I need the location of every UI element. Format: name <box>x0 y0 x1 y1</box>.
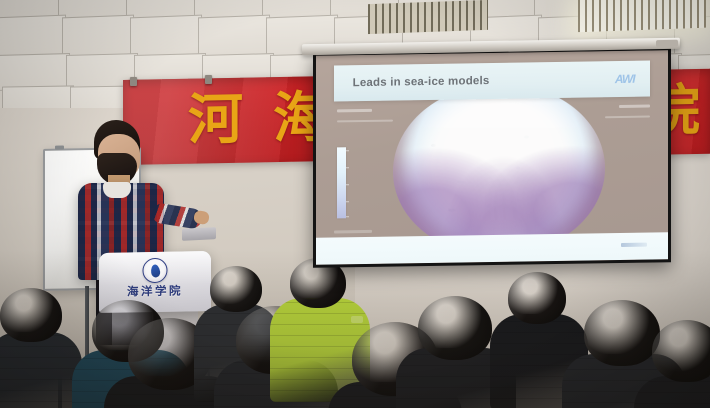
slide-title: Leads in sea-ice models <box>353 75 490 89</box>
lecture-hall-photo: 河 海 院 <box>0 0 710 408</box>
banner-clip-left <box>130 77 137 86</box>
room-shadow-gradient <box>0 250 710 408</box>
light-grille <box>578 0 706 32</box>
projection-screen-frame: Leads in sea-ice models AWI <box>313 47 671 268</box>
presentation-slide: Leads in sea-ice models AWI <box>316 50 668 265</box>
slide-label-left-heading <box>337 109 372 113</box>
fluorescent-panel-left <box>368 0 488 34</box>
light-grille <box>368 0 488 34</box>
slide-label-right-sub <box>605 115 651 118</box>
slide-label-left-sub <box>337 119 393 122</box>
slide-footer-band <box>316 232 668 265</box>
fluorescent-panel-right <box>578 0 706 32</box>
arctic-sea-ice-map <box>393 83 604 258</box>
slide-footer-logo <box>621 243 647 247</box>
awi-logo: AWI <box>615 72 635 86</box>
screen-housing-cap <box>656 40 678 47</box>
banner-clip-mid <box>205 75 212 84</box>
slide-label-right-heading <box>619 105 651 108</box>
speaker-shirt-collar <box>103 182 131 198</box>
slide-title-band: Leads in sea-ice models AWI <box>334 61 651 101</box>
laptop <box>182 227 216 241</box>
whiteboard-clip-left <box>55 145 64 149</box>
slide-colorbar <box>337 147 346 218</box>
slide-label-bottom-left <box>334 230 373 234</box>
projection-screen: Leads in sea-ice models AWI <box>316 50 668 265</box>
